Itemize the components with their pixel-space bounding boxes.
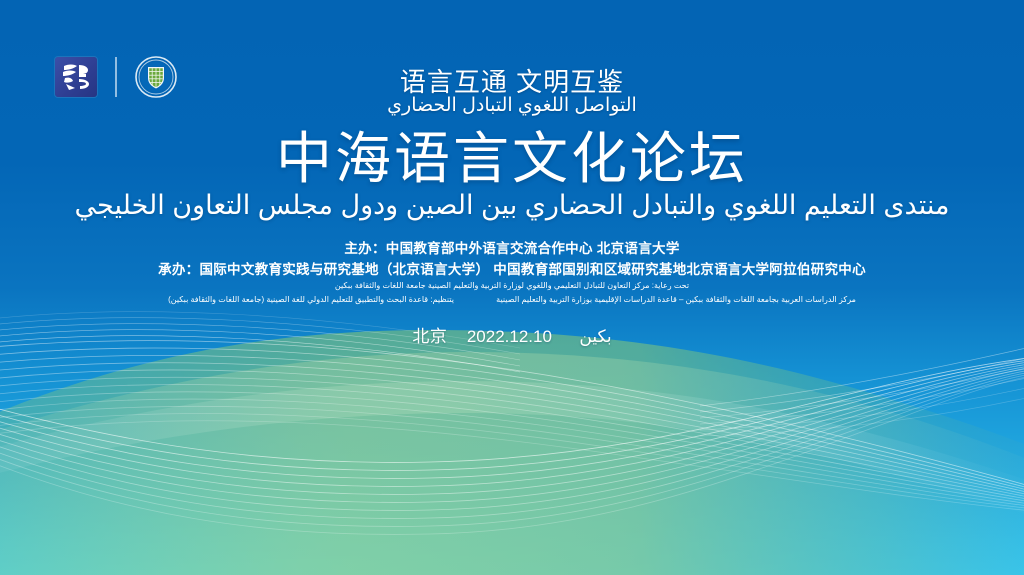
event-date: 2022.12.10: [467, 327, 552, 346]
slogan-arabic: التواصل اللغوي التبادل الحضاري: [0, 94, 1024, 117]
organizer-line-primary: 主办：中国教育部中外语言交流合作中心 北京语言大学: [0, 237, 1024, 257]
patron-line-arabic-1: تحت رعاية: مركز التعاون للتبادل التعليمي…: [0, 281, 1024, 290]
date-location-line: 北京 بكين 2022.12.10: [0, 322, 1024, 347]
page-title-arabic: منتدى التعليم اللغوي والتبادل الحضاري بي…: [0, 190, 1024, 221]
patron-line-arabic-2-right: يتنظيم: قاعدة البحث والتطبيق للتعليم الد…: [168, 295, 454, 304]
patron-line-arabic-2: مركز الدراسات العربية بجامعة اللغات والث…: [0, 295, 1024, 304]
city-chinese: 北京: [412, 327, 447, 346]
page-title: 中海语言文化论坛: [0, 128, 1024, 191]
organizer-line-secondary: 承办：国际中文教育实践与研究基地（北京语言大学） 中国教育部国别和区域研究基地北…: [0, 258, 1024, 278]
banner-canvas: 语言互通 文明互鉴 التواصل اللغوي التبادل الحضاري…: [0, 0, 1024, 575]
city-arabic: بكين: [579, 327, 611, 346]
patron-line-arabic-2-left: مركز الدراسات العربية بجامعة اللغات والث…: [496, 295, 856, 304]
